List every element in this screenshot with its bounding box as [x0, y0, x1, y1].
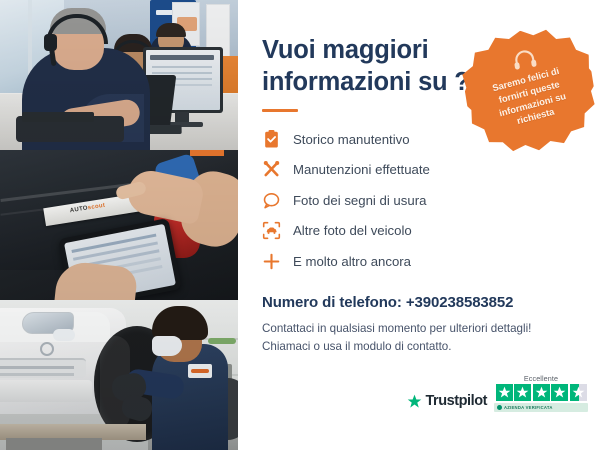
car-headlight [22, 312, 74, 334]
page-title: Vuoi maggiori informazioni su ? [262, 34, 477, 98]
badge-text: Saremo felici di fornirti queste informa… [484, 63, 578, 134]
phone-number-line[interactable]: Numero di telefono: +390238583852 [262, 294, 578, 311]
mechanic-face-mask [152, 336, 182, 356]
content-panel: Vuoi maggiori informazioni su ? Saremo f… [238, 0, 600, 450]
trustpilot-star-icon [407, 394, 422, 409]
badge-content: Saremo felici di fornirti queste informa… [457, 21, 600, 165]
plus-icon [262, 252, 281, 271]
measuring-strip-label: AUTOscout [70, 203, 106, 214]
headset-icon [511, 48, 538, 72]
verified-business-label: AZIENDA VERIFICATA [504, 405, 553, 410]
car-emblem [40, 342, 54, 356]
trustpilot-logo: Trustpilot [407, 393, 487, 412]
info-badge: Saremo felici di fornirti queste informa… [457, 21, 600, 165]
star-5-partial [570, 384, 587, 401]
contact-subtext: Contattaci in qualsiasi momento per ulte… [262, 320, 578, 355]
feature-label: Manutenzioni effettuate [293, 162, 430, 177]
tools-cross-glyph [262, 160, 281, 179]
photo-scan-glyph [262, 221, 281, 240]
feature-item-more-photos[interactable]: Altre foto del veicolo [262, 218, 578, 244]
clipboard-check-icon [262, 130, 281, 149]
photo-workshop-wheel [0, 300, 238, 450]
verified-check-icon [497, 405, 502, 410]
car-bumper [0, 380, 92, 402]
trustpilot-wordmark: Trustpilot [425, 393, 487, 409]
feature-label: E molto altro ancora [293, 254, 411, 269]
feature-label: Foto dei segni di usura [293, 193, 426, 208]
photo-damage-inspection: AUTOscout [0, 150, 238, 300]
car-grille [0, 358, 86, 378]
keyboard [22, 112, 94, 122]
feature-item-wear-photos[interactable]: Foto dei segni di usura [262, 187, 578, 213]
feature-item-more[interactable]: E molto altro ancora [262, 248, 578, 274]
photo-scan-icon [262, 221, 281, 240]
car-lift-base [6, 438, 102, 450]
shelf-item-green [208, 338, 236, 344]
verified-business-badge: AZIENDA VERIFICATA [494, 403, 588, 412]
contact-subtext-line-2: Chiamaci o usa il modulo di contatto. [262, 338, 578, 355]
trustpilot-rating-label: Eccellente [524, 374, 558, 383]
trustpilot-stars [496, 384, 587, 401]
feature-label: Altre foto del veicolo [293, 223, 412, 238]
tools-cross-icon [262, 160, 281, 179]
feature-item-maintenance-performed[interactable]: Manutenzioni effettuate [262, 157, 578, 183]
contact-subtext-line-1: Contattaci in qualsiasi momento per ulte… [262, 320, 578, 337]
star-3 [533, 384, 550, 401]
star-2 [514, 384, 531, 401]
feature-label: Storico manutentivo [293, 132, 410, 147]
mechanic-uniform-logo [188, 364, 212, 378]
trustpilot-widget[interactable]: Trustpilot Eccellente AZIENDA VERIFICATA [407, 374, 588, 413]
clipboard-check-glyph [262, 130, 281, 149]
headlight-inner [53, 329, 75, 341]
trustpilot-rating: Eccellente AZIENDA VERIFICATA [494, 374, 588, 413]
search-bubble-glyph [262, 191, 281, 210]
star-4 [551, 384, 568, 401]
photo-call-centre [0, 0, 238, 150]
promo-card: AUTOscout [0, 0, 600, 450]
plus-glyph [262, 252, 281, 271]
search-bubble-icon [262, 191, 281, 210]
star-1 [496, 384, 513, 401]
photo-strip: AUTOscout [0, 0, 238, 450]
title-underline-rule [262, 109, 298, 112]
colleague-3-hair [156, 23, 186, 37]
